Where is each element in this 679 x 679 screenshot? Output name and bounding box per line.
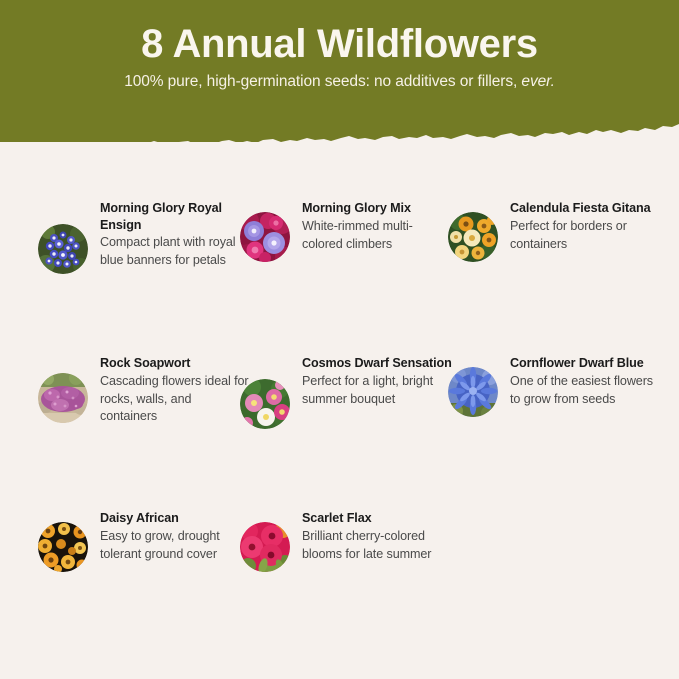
seed-item-daisy-african: Daisy African Easy to grow, drought tole… — [38, 510, 250, 572]
seed-name: Morning Glory Mix — [302, 200, 452, 217]
header-banner: 8 Annual Wildflowers 100% pure, high-ger… — [0, 0, 679, 142]
banner-text-group: 8 Annual Wildflowers 100% pure, high-ger… — [0, 0, 679, 91]
morning-glory-royal-ensign-photo — [38, 224, 88, 274]
page-title: 8 Annual Wildflowers — [0, 23, 679, 66]
grid-row: Rock Soapwort Cascading flowers ideal fo… — [0, 355, 679, 510]
seed-copy: Cornflower Dwarf Blue One of the easiest… — [510, 355, 660, 408]
seed-description: Easy to grow, drought tolerant ground co… — [100, 528, 250, 564]
calendula-fiesta-gitana-photo — [448, 212, 498, 262]
seed-item-cosmos-dwarf-sensation: Cosmos Dwarf Sensation Perfect for a lig… — [240, 355, 452, 429]
seed-variety-grid: Morning Glory Royal Ensign Compact plant… — [0, 200, 679, 665]
rock-soapwort-photo — [38, 373, 88, 423]
seed-copy: Daisy African Easy to grow, drought tole… — [100, 510, 250, 563]
seed-copy: Scarlet Flax Brilliant cherry-colored bl… — [302, 510, 452, 563]
seed-copy: Rock Soapwort Cascading flowers ideal fo… — [100, 355, 250, 426]
seed-name: Scarlet Flax — [302, 510, 452, 527]
daisy-african-photo — [38, 522, 88, 572]
grid-row: Morning Glory Royal Ensign Compact plant… — [0, 200, 679, 355]
seed-description: Cascading flowers ideal for rocks, walls… — [100, 373, 250, 427]
morning-glory-mix-photo — [240, 212, 290, 262]
seed-name: Cosmos Dwarf Sensation — [302, 355, 452, 372]
page-subtitle: 100% pure, high-germination seeds: no ad… — [0, 73, 679, 91]
grid-row: Daisy African Easy to grow, drought tole… — [0, 510, 679, 665]
seed-item-morning-glory-mix: Morning Glory Mix White-rimmed multi-col… — [240, 200, 452, 262]
seed-name: Daisy African — [100, 510, 250, 527]
page-subtitle-main: 100% pure, high-germination seeds: no ad… — [124, 73, 521, 90]
seed-name: Morning Glory Royal Ensign — [100, 200, 250, 233]
seed-description: Perfect for a light, bright summer bouqu… — [302, 373, 452, 409]
seed-item-scarlet-flax: Scarlet Flax Brilliant cherry-colored bl… — [240, 510, 452, 572]
seed-description: Compact plant with royal blue banners fo… — [100, 234, 250, 270]
seed-item-morning-glory-royal-ensign: Morning Glory Royal Ensign Compact plant… — [38, 200, 250, 274]
cornflower-dwarf-blue-photo — [448, 367, 498, 417]
seed-name: Cornflower Dwarf Blue — [510, 355, 660, 372]
seed-item-cornflower-dwarf-blue: Cornflower Dwarf Blue One of the easiest… — [448, 355, 660, 417]
seed-copy: Cosmos Dwarf Sensation Perfect for a lig… — [302, 355, 452, 408]
page-subtitle-emphasis: ever. — [521, 73, 554, 90]
scarlet-flax-photo — [240, 522, 290, 572]
seed-name: Rock Soapwort — [100, 355, 250, 372]
seed-description: White-rimmed multi-colored climbers — [302, 218, 452, 254]
cosmos-dwarf-sensation-photo — [240, 379, 290, 429]
seed-description: Perfect for borders or containers — [510, 218, 660, 254]
seed-copy: Calendula Fiesta Gitana Perfect for bord… — [510, 200, 660, 253]
seed-copy: Morning Glory Royal Ensign Compact plant… — [100, 200, 250, 270]
seed-description: Brilliant cherry-colored blooms for late… — [302, 528, 452, 564]
seed-item-calendula-fiesta-gitana: Calendula Fiesta Gitana Perfect for bord… — [448, 200, 660, 262]
seed-description: One of the easiest flowers to grow from … — [510, 373, 660, 409]
seed-item-rock-soapwort: Rock Soapwort Cascading flowers ideal fo… — [38, 355, 250, 426]
seed-name: Calendula Fiesta Gitana — [510, 200, 660, 217]
seed-copy: Morning Glory Mix White-rimmed multi-col… — [302, 200, 452, 253]
